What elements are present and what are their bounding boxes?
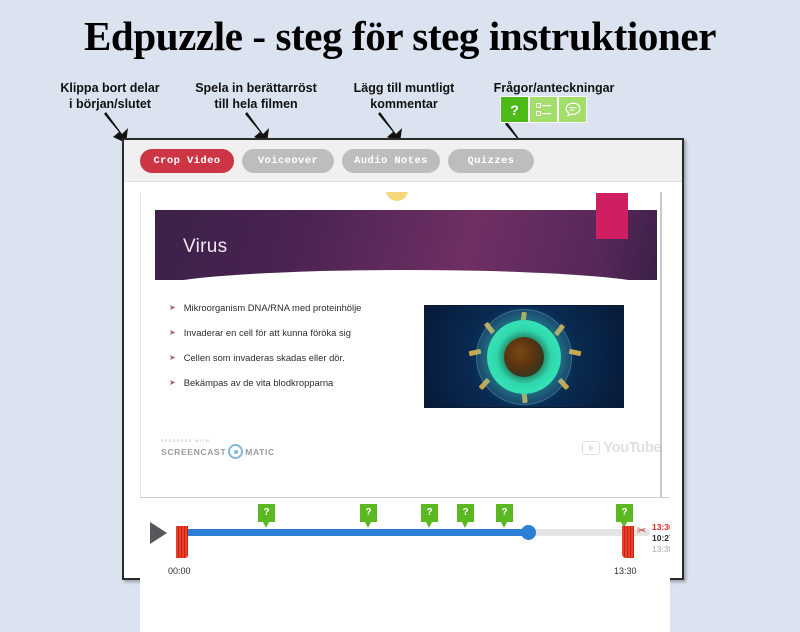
bullet-text: Mikroorganism DNA/RNA med proteinhölje bbox=[184, 302, 362, 314]
callout-label-quizzes: Frågor/anteckningar bbox=[474, 80, 634, 96]
list-item: ➤ Mikroorganism DNA/RNA med proteinhölje bbox=[169, 302, 419, 314]
virus-illustration-image bbox=[424, 305, 624, 408]
watermark-brand-right: MATIC bbox=[245, 447, 275, 457]
open-ended-question-button[interactable] bbox=[530, 97, 557, 122]
quiz-marker-label: ? bbox=[263, 508, 269, 518]
tab-quizzes[interactable]: Quizzes bbox=[448, 149, 534, 173]
presentation-slide: Virus ➤ Mikroorganism DNA/RNA med protei… bbox=[140, 192, 670, 497]
edpuzzle-editor-window: Crop Video Voiceover Audio Notes Quizzes… bbox=[122, 138, 684, 580]
bullet-text: Cellen som invaderas skadas eller dör. bbox=[184, 352, 345, 364]
quiz-marker-label: ? bbox=[365, 508, 371, 518]
multiple-choice-question-button[interactable]: ? bbox=[501, 97, 528, 122]
crop-handle-start[interactable] bbox=[176, 526, 188, 558]
speech-bubble-icon bbox=[565, 102, 581, 117]
list-item: ➤ Cellen som invaderas skadas eller dör. bbox=[169, 352, 419, 364]
tab-voiceover[interactable]: Voiceover bbox=[242, 149, 334, 173]
play-icon[interactable] bbox=[150, 522, 167, 544]
page-title: Edpuzzle - steg för steg instruktioner bbox=[0, 12, 800, 60]
quiz-marker-label: ? bbox=[426, 508, 432, 518]
quiz-marker[interactable]: ? bbox=[616, 504, 633, 522]
video-stage: Virus ➤ Mikroorganism DNA/RNA med protei… bbox=[140, 192, 670, 632]
list-item: ➤ Invaderar en cell för att kunna föröka… bbox=[169, 327, 419, 339]
tab-audio-notes[interactable]: Audio Notes bbox=[342, 149, 440, 173]
bullet-text: Invaderar en cell för att kunna föröka s… bbox=[184, 327, 351, 339]
bullet-marker-icon: ➤ bbox=[169, 377, 176, 389]
timeline-scrubber-handle[interactable] bbox=[521, 525, 536, 540]
clip-end-time: 13:30 bbox=[652, 522, 670, 533]
quiz-marker[interactable]: ? bbox=[421, 504, 438, 522]
player-timeline: ? ? ? ? ? ? 00: bbox=[140, 504, 670, 624]
callout-line-1: Spela in berättarröst bbox=[195, 81, 317, 95]
bullet-marker-icon: ➤ bbox=[169, 352, 176, 364]
watermark-brand-left: SCREENCAST bbox=[161, 447, 226, 457]
question-mark-icon: ? bbox=[510, 103, 519, 117]
quiz-marker[interactable]: ? bbox=[496, 504, 513, 522]
time-readout: 13:30 10:27 13:30 bbox=[652, 522, 670, 555]
callout-label-voiceover: Spela in berättarröst till hela filmen bbox=[180, 80, 332, 112]
total-duration: 13:30 bbox=[652, 544, 670, 555]
timeline-progress bbox=[183, 529, 528, 536]
watermark-brand: SCREENCAST MATIC bbox=[161, 444, 275, 459]
timeline-end-time: 13:30 bbox=[614, 566, 637, 576]
quiz-marker-label: ? bbox=[621, 508, 627, 518]
youtube-label: YouTube bbox=[603, 439, 661, 456]
slide-accent-rectangle bbox=[596, 193, 628, 239]
callout-line-1: Klippa bort delar bbox=[60, 81, 159, 95]
note-comment-button[interactable] bbox=[559, 97, 586, 122]
crop-handle-end[interactable] bbox=[622, 526, 634, 558]
quiz-marker[interactable]: ? bbox=[258, 504, 275, 522]
editor-tabbar: Crop Video Voiceover Audio Notes Quizzes bbox=[124, 140, 682, 182]
quiz-marker-label: ? bbox=[462, 508, 468, 518]
list-item: ➤ Bekämpas av de vita blodkropparna bbox=[169, 377, 419, 389]
bullet-text: Bekämpas av de vita blodkropparna bbox=[184, 377, 334, 389]
watermark-recorded-with: RECORDED WITH bbox=[161, 439, 275, 443]
quiz-marker[interactable]: ? bbox=[360, 504, 377, 522]
callout-line-1: Frågor/anteckningar bbox=[494, 81, 615, 95]
bullet-marker-icon: ➤ bbox=[169, 302, 176, 314]
tab-crop-video[interactable]: Crop Video bbox=[140, 149, 234, 173]
quiz-marker-label: ? bbox=[501, 508, 507, 518]
slide-banner bbox=[155, 210, 657, 280]
slide-title: Virus bbox=[183, 236, 227, 258]
watermark-dot-icon bbox=[228, 444, 243, 459]
callout-line-1: Lägg till muntligt bbox=[354, 81, 455, 95]
callout-label-audio-notes: Lägg till muntligt kommentar bbox=[336, 80, 472, 112]
question-type-toolbar: ? bbox=[500, 96, 587, 123]
youtube-watermark: YouTube bbox=[582, 439, 661, 456]
slide-yellow-accent bbox=[386, 192, 408, 201]
bullet-marker-icon: ➤ bbox=[169, 327, 176, 339]
current-time: 10:27 bbox=[652, 533, 670, 544]
timeline-start-time: 00:00 bbox=[168, 566, 191, 576]
checklist-icon bbox=[536, 103, 551, 117]
callout-label-crop: Klippa bort delar i början/slutet bbox=[40, 80, 180, 112]
virus-capsid bbox=[487, 320, 561, 394]
scissors-icon[interactable]: ✂ bbox=[637, 526, 646, 537]
stage-divider bbox=[140, 497, 670, 498]
play-button-icon bbox=[582, 441, 600, 455]
screencast-o-matic-watermark: RECORDED WITH SCREENCAST MATIC bbox=[161, 439, 275, 459]
slide-bullet-list: ➤ Mikroorganism DNA/RNA med proteinhölje… bbox=[169, 302, 419, 402]
quiz-marker[interactable]: ? bbox=[457, 504, 474, 522]
callout-line-2: kommentar bbox=[336, 96, 472, 112]
